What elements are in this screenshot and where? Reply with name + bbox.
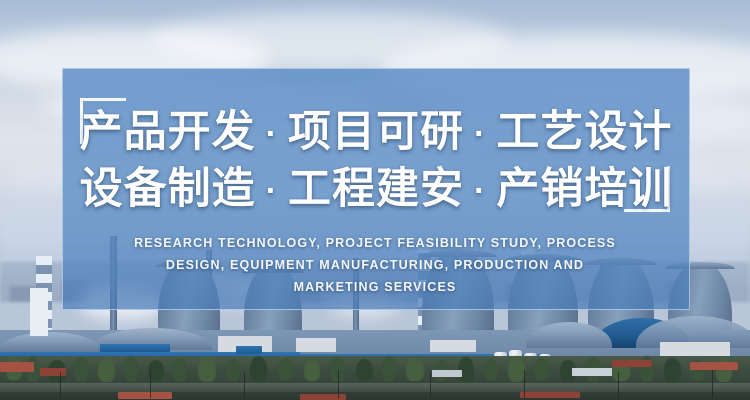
subtitle-line-3: MARKETING SERVICES xyxy=(105,276,645,298)
headline-separator-4: · xyxy=(464,163,496,220)
headline-item-6: 产销培训 xyxy=(496,165,672,213)
headline-line-2: 设备制造·工程建安·产销培训 xyxy=(62,161,690,220)
headline-item-2: 项目可研 xyxy=(288,108,464,156)
subtitle-line-2: DESIGN, EQUIPMENT MANUFACTURING, PRODUCT… xyxy=(105,254,645,276)
railway-line xyxy=(0,383,750,392)
headline-item-5: 工程建安 xyxy=(288,165,464,213)
banner-image: 产品开发·项目可研·工艺设计 设备制造·工程建安·产销培训 RESEARCH T… xyxy=(0,0,750,400)
blue-roof-3 xyxy=(100,344,170,352)
headline-item-4: 设备制造 xyxy=(80,165,256,213)
headline-line-1: 产品开发·项目可研·工艺设计 xyxy=(62,104,690,163)
headline-separator-1: · xyxy=(256,106,288,163)
subtitle-block: RESEARCH TECHNOLOGY, PROJECT FEASIBILITY… xyxy=(105,232,645,298)
blue-roof-4 xyxy=(236,346,262,354)
headline-separator-3: · xyxy=(256,163,288,220)
subtitle-line-1: RESEARCH TECHNOLOGY, PROJECT FEASIBILITY… xyxy=(105,232,645,254)
foreground-ground xyxy=(0,356,750,400)
factory-building-3 xyxy=(430,340,476,352)
headline-separator-2: · xyxy=(464,106,496,163)
factory-building-2 xyxy=(296,338,336,352)
headline-item-3: 工艺设计 xyxy=(496,108,672,156)
factory-building-4 xyxy=(660,342,730,356)
control-tower-left xyxy=(30,288,48,336)
headline-item-1: 产品开发 xyxy=(80,108,256,156)
